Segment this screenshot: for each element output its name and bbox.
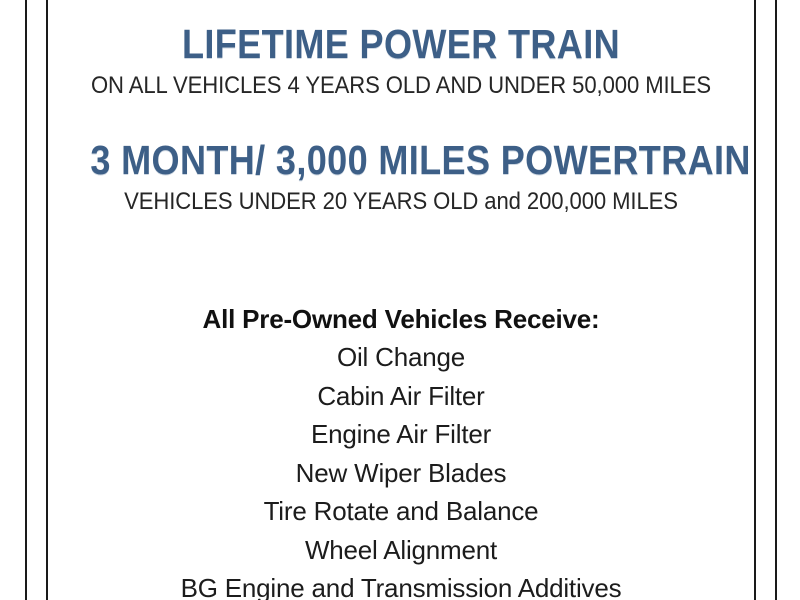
promo-block-3month-powertrain: 3 MONTH/ 3,000 MILES POWERTRAIN VEHICLES… (48, 138, 754, 216)
promo-block-lifetime-powertrain: LIFETIME POWER TRAIN ON ALL VEHICLES 4 Y… (48, 22, 754, 100)
promo-subheading: VEHICLES UNDER 20 YEARS OLD and 200,000 … (76, 188, 726, 216)
list-item: Engine Air Filter (48, 415, 754, 454)
list-item: Cabin Air Filter (48, 377, 754, 416)
list-item: New Wiper Blades (48, 454, 754, 493)
border-rule-right-inner (754, 0, 756, 600)
flyer-canvas: LIFETIME POWER TRAIN ON ALL VEHICLES 4 Y… (0, 0, 800, 600)
promo-subheading: ON ALL VEHICLES 4 YEARS OLD AND UNDER 50… (76, 72, 726, 100)
services-list: Oil Change Cabin Air Filter Engine Air F… (48, 338, 754, 600)
list-item: Wheel Alignment (48, 531, 754, 570)
border-rule-left-outer (25, 0, 27, 600)
services-section: All Pre-Owned Vehicles Receive: Oil Chan… (48, 300, 754, 600)
services-heading: All Pre-Owned Vehicles Receive: (48, 300, 754, 338)
promo-headline: LIFETIME POWER TRAIN (90, 22, 711, 66)
border-rule-right-outer (775, 0, 777, 600)
promo-headline: 3 MONTH/ 3,000 MILES POWERTRAIN (90, 138, 711, 182)
flyer-content: LIFETIME POWER TRAIN ON ALL VEHICLES 4 Y… (48, 0, 754, 600)
list-item: Oil Change (48, 338, 754, 377)
list-item: Tire Rotate and Balance (48, 492, 754, 531)
list-item: BG Engine and Transmission Additives (48, 569, 754, 600)
